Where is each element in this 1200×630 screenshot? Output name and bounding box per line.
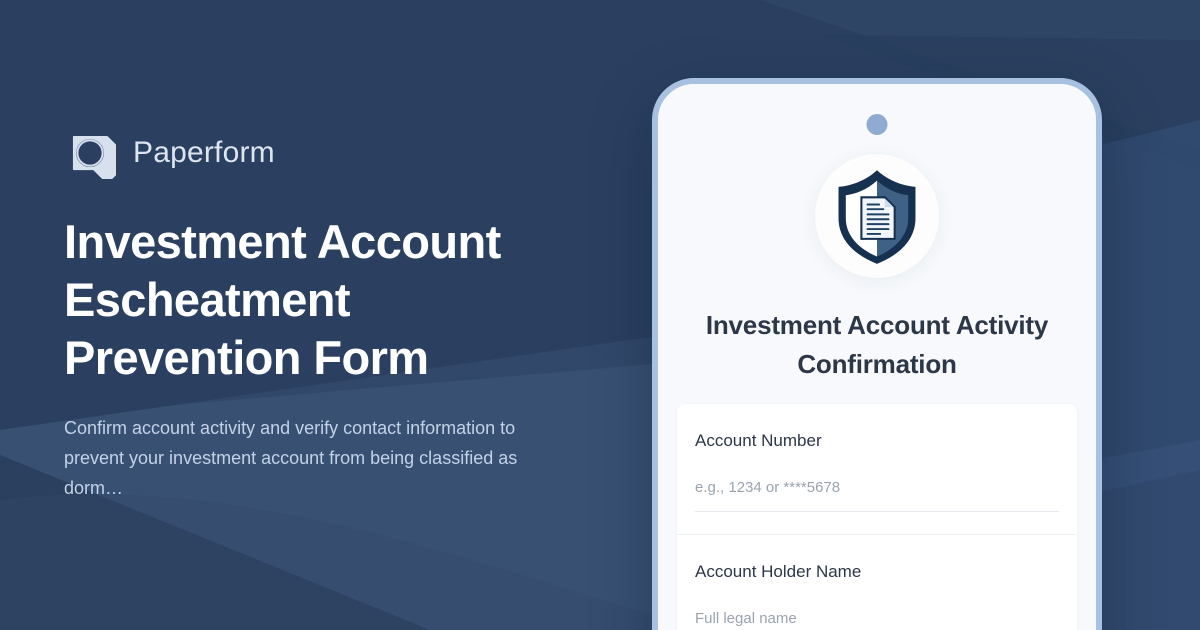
og-card-canvas: Paperform Investment Account Escheatment… bbox=[0, 0, 1200, 630]
phone-mockup: Investment Account Activity Confirmation… bbox=[652, 78, 1102, 630]
hero-subcopy: Confirm account activity and verify cont… bbox=[64, 413, 554, 503]
paperform-star-logo-icon bbox=[64, 127, 116, 179]
field-label: Account Holder Name bbox=[695, 561, 1059, 583]
camera-dot-icon bbox=[867, 114, 888, 135]
field-account-number: Account Number bbox=[677, 404, 1077, 534]
shield-document-icon bbox=[825, 164, 929, 268]
account-number-input[interactable] bbox=[695, 478, 1059, 512]
field-account-holder-name: Account Holder Name bbox=[677, 534, 1077, 630]
brand-name: Paperform bbox=[133, 136, 275, 170]
phone-form-title: Investment Account Activity Confirmation bbox=[658, 306, 1096, 384]
field-label: Account Number bbox=[695, 430, 1059, 452]
hero-text-column: Paperform Investment Account Escheatment… bbox=[64, 0, 624, 630]
page-title: Investment Account Escheatment Preventio… bbox=[64, 213, 584, 387]
brand-lockup: Paperform bbox=[64, 127, 624, 179]
account-holder-name-input[interactable] bbox=[695, 609, 1059, 630]
phone-screen: Investment Account Activity Confirmation… bbox=[658, 84, 1096, 630]
form-hero-icon-badge bbox=[815, 154, 939, 278]
form-card: Account Number Account Holder Name bbox=[677, 404, 1077, 630]
